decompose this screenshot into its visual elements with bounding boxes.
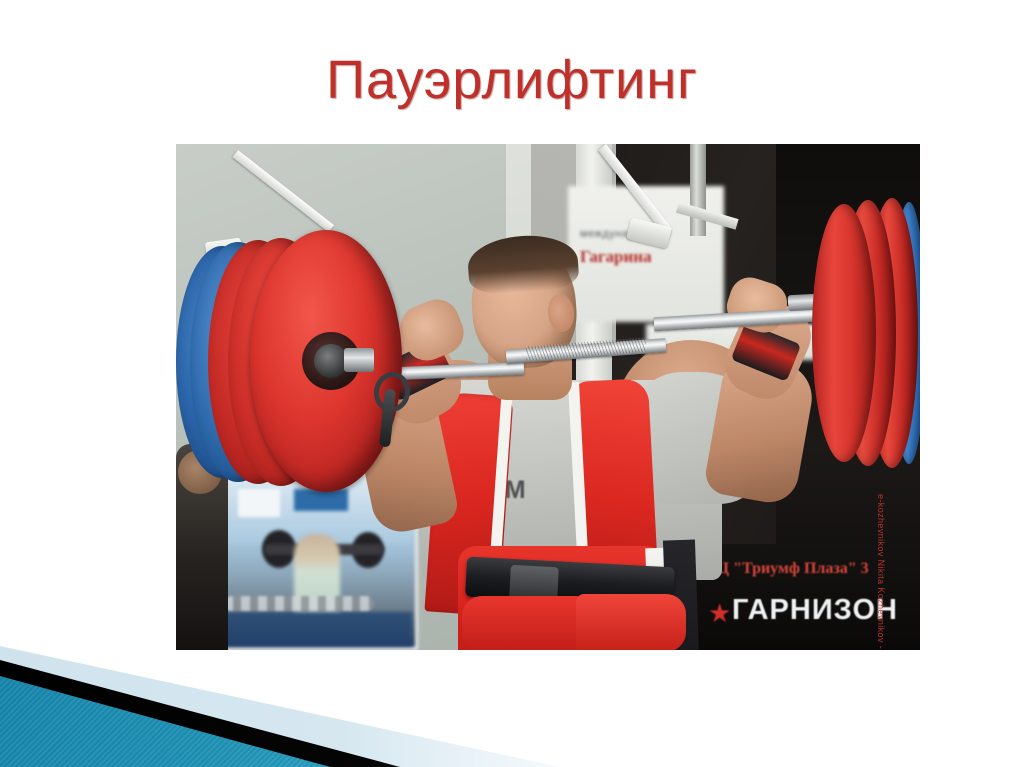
barbell-collar-left [344, 348, 374, 372]
presentation-slide: Пауэрлифтинг международный Гагарина спор… [0, 0, 1024, 767]
photo-watermark: e-kozhevnikov Nikita Kozhevnikov - livej… [876, 494, 886, 650]
gym-poster-label-blue [294, 489, 348, 511]
gym-poster-dumbbell-rack [224, 596, 374, 612]
gym-poster-label-white [238, 489, 280, 517]
gym-banner-top-line2: Гагарина [580, 247, 712, 267]
gym-poster-floor [218, 612, 412, 646]
athlete-thigh-left [462, 596, 584, 650]
squat-rack-post-right [690, 144, 706, 236]
slide-photo: международный Гагарина спорт ТЦ "Триумф … [176, 144, 920, 650]
page-title: Пауэрлифтинг [0, 52, 1024, 109]
athlete-thigh-right [576, 594, 686, 650]
weight-plate-red-right-1 [812, 204, 876, 462]
weight-plate-hub-inner [314, 344, 348, 378]
gym-banner-dark-line2: ГАРНИЗОН [732, 594, 916, 628]
